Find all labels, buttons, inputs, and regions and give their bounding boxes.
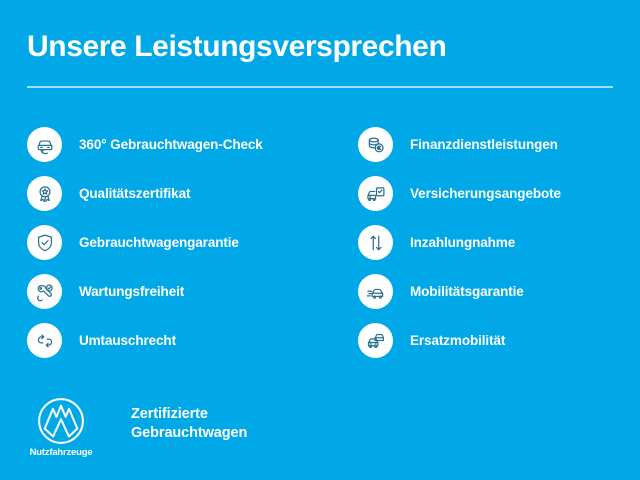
promise-label: Wartungsfreiheit	[79, 284, 184, 299]
car-motion-icon	[358, 274, 393, 309]
promise-label: Qualitätszertifikat	[79, 186, 190, 201]
promise-column-left: 360° Gebrauchtwagen-Check Qualitätszerti…	[27, 120, 347, 365]
promise-item-versicherungsangebote: Versicherungsangebote	[358, 169, 633, 218]
promise-label: Ersatzmobilität	[410, 333, 505, 348]
car-inspection-icon	[27, 127, 62, 162]
brand-claim-line1: Zertifizierte	[131, 405, 247, 424]
arrows-up-down-icon	[358, 225, 393, 260]
brand-claim-line2: Gebrauchtwagen	[131, 424, 247, 443]
title-divider	[27, 86, 613, 88]
promise-item-wartungsfreiheit: Wartungsfreiheit	[27, 267, 347, 316]
exchange-arrows-icon	[27, 323, 62, 358]
vw-logo-block: Nutzfahrzeuge	[30, 396, 92, 458]
promise-label: Finanzdienstleistungen	[410, 137, 558, 152]
slide-root: Unsere Leistungsversprechen 360° Gebrauc…	[0, 0, 640, 480]
promise-label: Inzahlungnahme	[410, 235, 515, 250]
page-title: Unsere Leistungsversprechen	[27, 30, 446, 64]
promise-label: 360° Gebrauchtwagen-Check	[79, 137, 263, 152]
promise-label: Umtauschrecht	[79, 333, 176, 348]
two-cars-icon	[358, 323, 393, 358]
promise-item-umtauschrecht: Umtauschrecht	[27, 316, 347, 365]
promise-label: Mobilitätsgarantie	[410, 284, 524, 299]
promise-item-gebrauchtwagen-check: 360° Gebrauchtwagen-Check	[27, 120, 347, 169]
promise-item-ersatzmobilitaet: Ersatzmobilität	[358, 316, 633, 365]
car-checklist-icon	[358, 176, 393, 211]
promise-item-mobilitaetsgarantie: Mobilitätsgarantie	[358, 267, 633, 316]
promise-item-inzahlungnahme: Inzahlungnahme	[358, 218, 633, 267]
shield-check-icon	[27, 225, 62, 260]
quality-seal-icon	[27, 176, 62, 211]
promise-label: Versicherungsangebote	[410, 186, 561, 201]
promise-item-qualitaetszertifikat: Qualitätszertifikat	[27, 169, 347, 218]
promise-item-finanzdienstleistungen: Finanzdienstleistungen	[358, 120, 633, 169]
brand-claim: Zertifizierte Gebrauchtwagen	[131, 405, 247, 442]
wrench-check-icon	[27, 274, 62, 309]
coins-euro-icon	[358, 127, 393, 162]
promise-label: Gebrauchtwagengarantie	[79, 235, 239, 250]
volkswagen-logo-icon	[36, 396, 86, 446]
brand-lockup: Nutzfahrzeuge Zertifizierte Gebrauchtwag…	[30, 396, 247, 458]
vw-subbrand-label: Nutzfahrzeuge	[30, 447, 93, 458]
promise-item-gebrauchtwagengarantie: Gebrauchtwagengarantie	[27, 218, 347, 267]
promise-column-right: Finanzdienstleistungen Versicherungsange…	[358, 120, 633, 365]
